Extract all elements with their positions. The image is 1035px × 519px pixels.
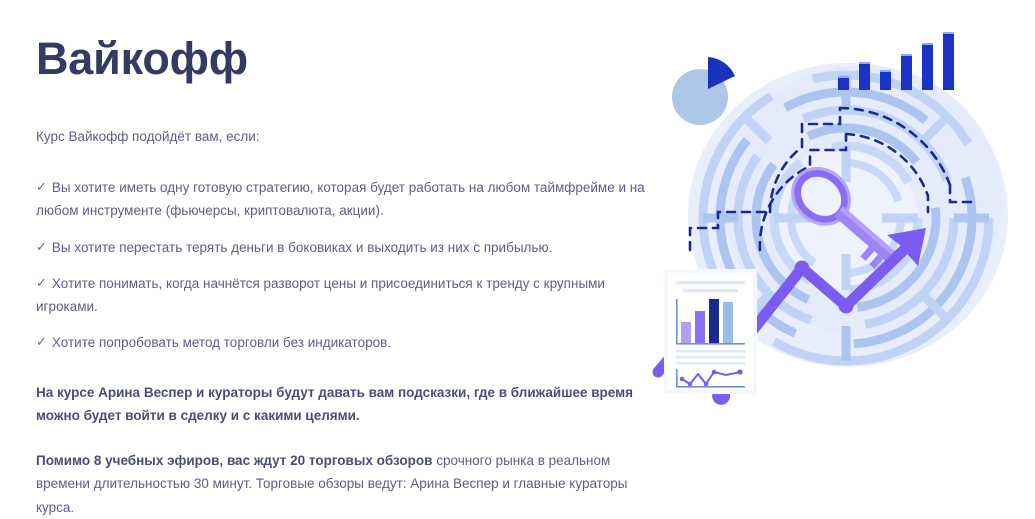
intro-text: Курс Вайкофф подойдёт вам, если: bbox=[36, 127, 656, 148]
check-icon: ✓ bbox=[36, 331, 47, 353]
page-title: Вайкофф bbox=[36, 36, 656, 81]
maze-key-growth-illustration bbox=[650, 0, 1035, 424]
check-icon: ✓ bbox=[36, 272, 47, 294]
pie-chart-icon bbox=[672, 57, 735, 125]
text-content-column: Вайкофф Курс Вайкофф подойдёт вам, если:… bbox=[36, 36, 656, 519]
mentor-hint-paragraph: На курсе Арина Веспер и кураторы будут д… bbox=[36, 381, 656, 427]
check-icon: ✓ bbox=[36, 176, 47, 198]
list-item: ✓Хотите понимать, когда начнётся разворо… bbox=[36, 272, 656, 319]
landing-page-section: Вайкофф Курс Вайкофф подойдёт вам, если:… bbox=[0, 0, 1035, 424]
broadcasts-paragraph-bold: Помимо 8 учебных эфиров, вас ждут 20 тор… bbox=[36, 453, 432, 468]
benefits-list: ✓Вы хотите иметь одну готовую стратегию,… bbox=[36, 176, 656, 355]
broadcasts-paragraph: Помимо 8 учебных эфиров, вас ждут 20 тор… bbox=[36, 449, 656, 519]
list-item: ✓Вы хотите иметь одну готовую стратегию,… bbox=[36, 176, 656, 223]
list-item-label: Вы хотите перестать терять деньги в боко… bbox=[52, 240, 552, 255]
list-item: ✓Хотите попробовать метод торговли без и… bbox=[36, 331, 656, 354]
check-icon: ✓ bbox=[36, 236, 47, 258]
list-item: ✓Вы хотите перестать терять деньги в бок… bbox=[36, 236, 656, 259]
list-item-label: Вы хотите иметь одну готовую стратегию, … bbox=[36, 180, 645, 218]
list-item-label: Хотите попробовать метод торговли без ин… bbox=[52, 335, 391, 350]
list-item-label: Хотите понимать, когда начнётся разворот… bbox=[36, 276, 605, 314]
document-card bbox=[664, 269, 757, 394]
